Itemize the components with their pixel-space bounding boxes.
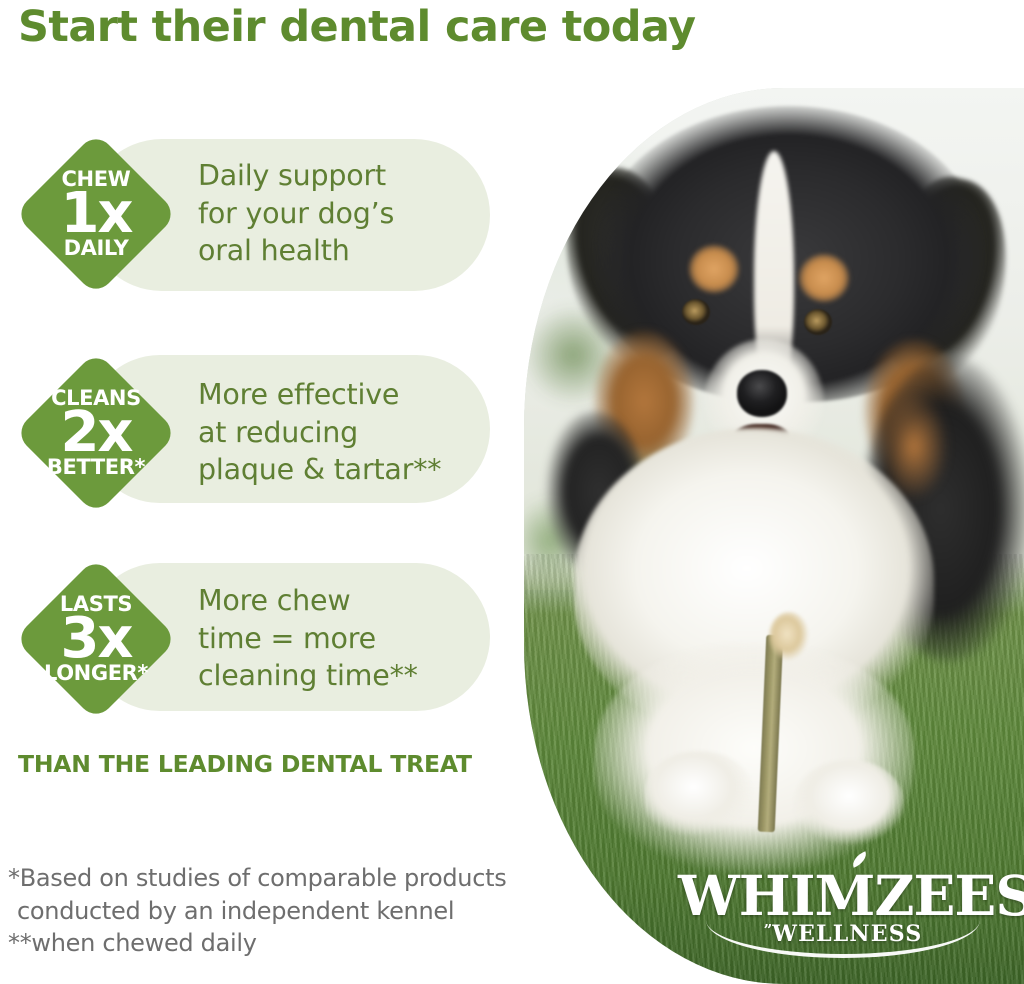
dog-photo: WHIMZEES® ”WELLNESS <box>524 88 1024 984</box>
benefit-line: at reducing <box>198 414 498 452</box>
dog-paw-right <box>794 760 904 850</box>
dog-illustration <box>524 88 1024 984</box>
benefit-text: More chew time = more cleaning time** <box>198 551 498 726</box>
benefit-line: oral health <box>198 232 498 270</box>
benefit-badge-chew: CHEW 1x DAILY <box>16 134 176 294</box>
brand-logo: WHIMZEES® ”WELLNESS <box>678 868 1008 947</box>
page-title: Start their dental care today <box>18 6 778 49</box>
dog-brow-left <box>689 245 739 293</box>
badge-multiplier: 1x <box>60 187 131 240</box>
benefit-badge-cleans: CLEANS 2x BETTER* <box>16 353 176 513</box>
benefit-badge-lasts: LASTS 3x LONGER* <box>16 559 176 719</box>
benefit-row: LASTS 3x LONGER* More chew time = more c… <box>0 551 520 726</box>
footnotes: *Based on studies of comparable products… <box>8 862 588 960</box>
benefit-text: More effective at reducing plaque & tart… <box>198 345 498 520</box>
badge-bottom-label: BETTER* <box>47 457 145 478</box>
benefit-line: time = more <box>198 620 498 658</box>
benefit-line: More chew <box>198 582 498 620</box>
comparison-label: THAN THE LEADING DENTAL TREAT <box>18 750 472 778</box>
footnote-line: **when chewed daily <box>8 927 588 960</box>
chew-stick-knob <box>769 612 809 661</box>
dog-brow-right <box>799 254 849 302</box>
benefit-line: plaque & tartar** <box>198 451 498 489</box>
dog-paw-left <box>644 751 754 841</box>
badge-bottom-label: LONGER* <box>44 663 148 684</box>
badge-multiplier: 3x <box>60 612 131 665</box>
footnote-line: *Based on studies of comparable products <box>8 862 588 895</box>
footnote-line: conducted by an independent kennel <box>8 895 588 928</box>
badge-multiplier: 2x <box>60 406 131 459</box>
benefit-text: Daily support for your dog’s oral health <box>198 126 498 301</box>
benefit-row: CLEANS 2x BETTER* More effective at redu… <box>0 345 520 520</box>
benefit-line: Daily support <box>198 157 498 195</box>
promo-banner: Start their dental care today CHEW 1x DA… <box>0 0 1024 984</box>
dog-nose <box>737 370 787 417</box>
brand-wordmark-text: WHIMZEES <box>678 863 1024 928</box>
benefit-line: cleaning time** <box>198 657 498 695</box>
benefit-row: CHEW 1x DAILY Daily support for your dog… <box>0 126 520 301</box>
dog-eye-left <box>682 299 710 325</box>
benefit-line: More effective <box>198 376 498 414</box>
benefit-line: for your dog’s <box>198 195 498 233</box>
brand-wordmark: WHIMZEES® <box>678 868 1024 923</box>
badge-bottom-label: DAILY <box>64 238 129 259</box>
